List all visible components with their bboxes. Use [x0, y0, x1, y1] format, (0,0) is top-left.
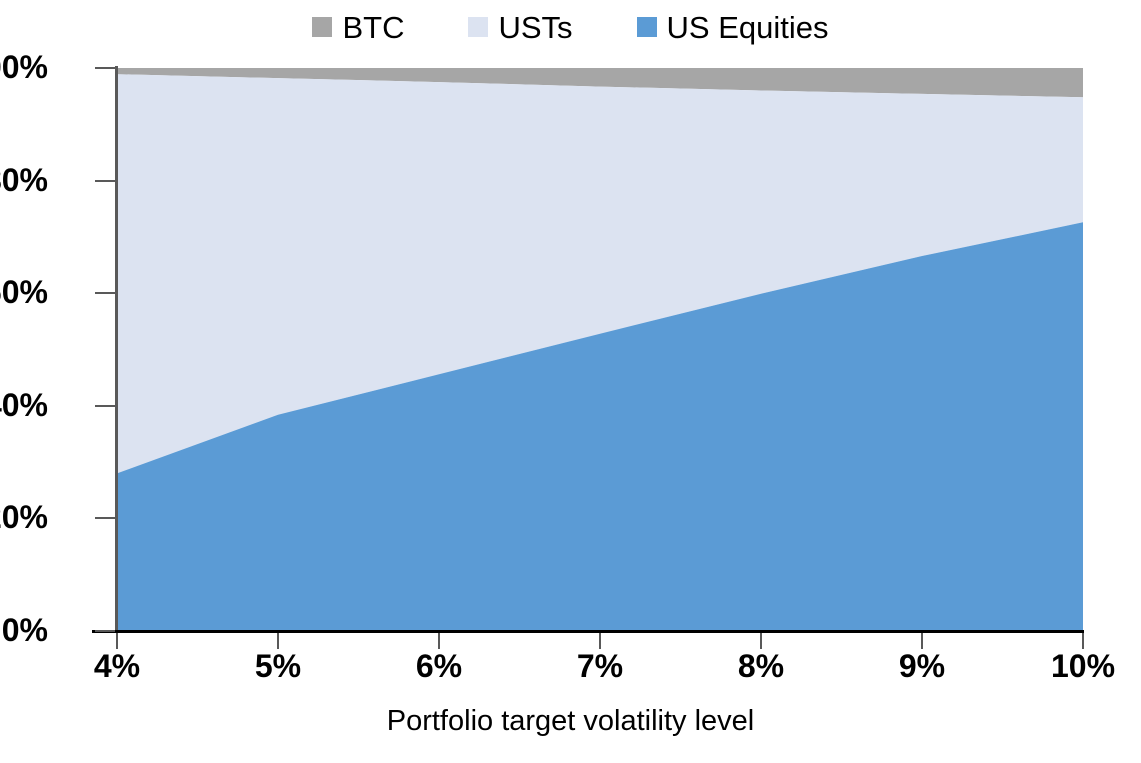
x-axis-tick-label: 7%	[577, 650, 623, 682]
y-axis-line	[115, 66, 118, 633]
x-axis-tick-label: 10%	[1051, 650, 1115, 682]
legend-item-usts[interactable]: USTs	[468, 12, 572, 43]
x-axis-line	[92, 630, 1084, 633]
y-axis-tick-label: 40%	[0, 389, 48, 421]
chart-legend: BTC USTs US Equities	[0, 4, 1141, 50]
legend-item-label: US Equities	[667, 12, 829, 43]
y-axis-tick-label: 20%	[0, 501, 48, 533]
x-axis-tick-label: 9%	[899, 650, 945, 682]
legend-item-label: USTs	[498, 12, 572, 43]
x-axis-tick	[277, 633, 279, 649]
y-axis-tick	[95, 405, 115, 407]
legend-square-icon	[312, 17, 332, 37]
y-axis-tick-label: 100%	[0, 51, 48, 83]
y-axis-tick-label: 0%	[2, 614, 48, 646]
x-axis-tick	[921, 633, 923, 649]
legend-item-label: BTC	[342, 12, 404, 43]
x-axis-tick-label: 8%	[738, 650, 784, 682]
legend-square-icon	[637, 17, 657, 37]
x-axis-tick-label: 4%	[94, 650, 140, 682]
stacked-area-chart: BTC USTs US Equities 100%80%60%40%20%0% …	[0, 0, 1141, 763]
x-axis-tick	[1082, 633, 1084, 649]
x-axis-tick	[438, 633, 440, 649]
y-axis-tick	[95, 67, 115, 69]
x-axis-tick	[116, 633, 118, 649]
x-axis-tick	[760, 633, 762, 649]
plot-area	[117, 68, 1083, 631]
y-axis-tick	[95, 292, 115, 294]
y-axis-tick-label: 80%	[0, 164, 48, 196]
y-axis-tick	[95, 630, 115, 632]
x-axis-tick-label: 6%	[416, 650, 462, 682]
area-series-group	[117, 68, 1083, 631]
legend-item-us-equities[interactable]: US Equities	[637, 12, 829, 43]
x-axis-tick-label: 5%	[255, 650, 301, 682]
legend-square-icon	[468, 17, 488, 37]
x-axis-tick	[599, 633, 601, 649]
y-axis-tick	[95, 180, 115, 182]
x-axis-title: Portfolio target volatility level	[0, 706, 1141, 736]
legend-item-btc[interactable]: BTC	[312, 12, 404, 43]
y-axis-tick-label: 60%	[0, 276, 48, 308]
y-axis-tick	[95, 517, 115, 519]
